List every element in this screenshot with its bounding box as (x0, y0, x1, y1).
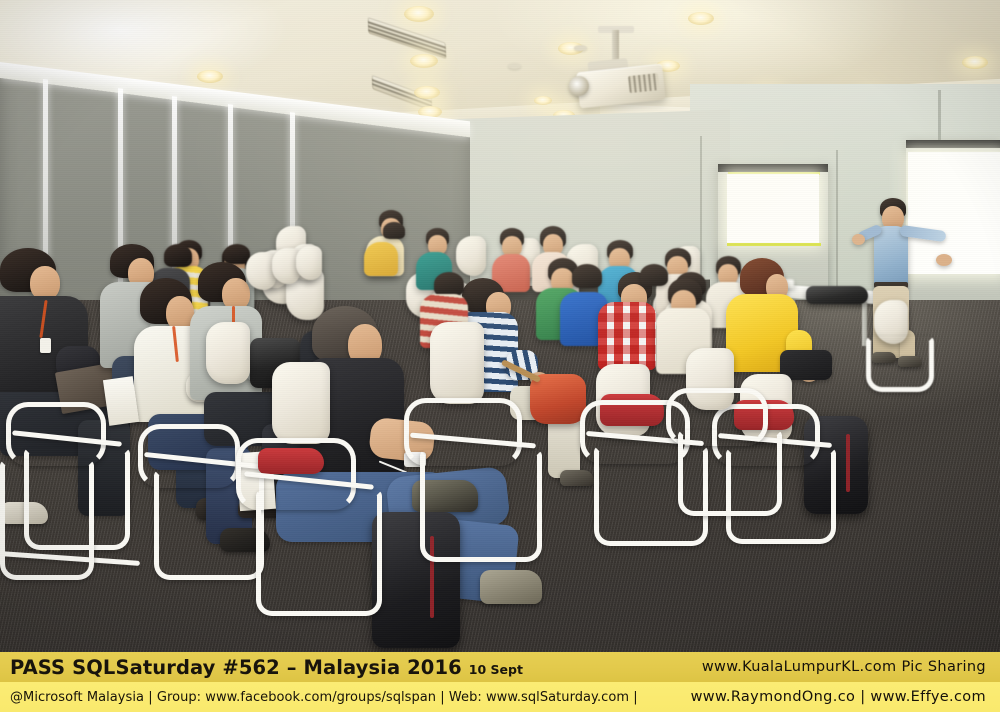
equipment-bag (806, 286, 868, 304)
ceiling-downlight (404, 6, 434, 22)
chair-back (296, 246, 322, 280)
chair-leg (678, 430, 782, 516)
banner-row-title: PASS SQLSaturday #562 – Malaysia 201610 … (0, 652, 1000, 682)
backpack-strap (846, 434, 850, 493)
ceiling-downlight (410, 54, 438, 68)
chair-leg (256, 490, 382, 616)
attendee-hair (164, 244, 192, 267)
projection-screen-left (727, 174, 819, 244)
event-details: @Microsoft Malaysia | Group: www.faceboo… (10, 690, 638, 705)
screen-casing (906, 140, 1000, 148)
banner-details-group: @Microsoft Malaysia | Group: www.faceboo… (10, 688, 638, 706)
banner-row-details: @Microsoft Malaysia | Group: www.faceboo… (0, 682, 1000, 712)
ceiling-downlight (414, 86, 440, 99)
photographer-sites: www.RaymondOng.co | www.Effye.com (691, 689, 986, 705)
ceiling-downlight (688, 12, 714, 25)
presenter-hand (936, 254, 952, 266)
ceiling-downlight (197, 70, 223, 83)
attendee-hair (383, 222, 405, 239)
chair-back (206, 322, 250, 384)
ceiling-downlight (534, 96, 552, 105)
photo-credit-site: www.KualaLumpurKL.com Pic Sharing (702, 659, 986, 675)
projector-vent-grille (628, 73, 660, 93)
attendee-shoe (480, 570, 542, 604)
printed-handout (103, 376, 139, 426)
banner-credit-group: www.KualaLumpurKL.com Pic Sharing (702, 658, 986, 676)
attendee-shoe (560, 470, 594, 486)
smoke-detector (508, 63, 521, 69)
chair-back (272, 362, 330, 444)
banner-credit-group-secondary: www.RaymondOng.co | www.Effye.com (691, 688, 986, 706)
event-date: 10 Sept (469, 662, 523, 677)
attendee-checkered-top (598, 302, 656, 370)
event-photograph (0, 0, 1000, 652)
attendee-hair (434, 272, 464, 296)
attendee-head (30, 266, 60, 300)
chair-leg (0, 460, 94, 580)
screen-edge-glow (727, 243, 821, 246)
chair-leg (866, 336, 934, 392)
chair-leg (420, 450, 542, 562)
name-badge (40, 338, 51, 353)
smoke-detector (574, 45, 587, 51)
presenter-hand-front (852, 234, 865, 245)
caption-banner: PASS SQLSaturday #562 – Malaysia 201610 … (0, 652, 1000, 712)
event-title: PASS SQLSaturday #562 – Malaysia 2016 (10, 656, 462, 679)
chair-back (430, 322, 484, 404)
attendee-hair (572, 264, 602, 288)
screen-casing (718, 164, 828, 172)
chair-back (456, 236, 486, 276)
banner-title-group: PASS SQLSaturday #562 – Malaysia 201610 … (10, 656, 523, 679)
attendee-hair (640, 264, 668, 286)
screenshot-root: PASS SQLSaturday #562 – Malaysia 201610 … (0, 0, 1000, 712)
attendee-top (364, 242, 398, 276)
ceiling-downlight (962, 56, 988, 69)
attendee-hair (224, 244, 250, 264)
projection-screen-right (908, 152, 1000, 274)
